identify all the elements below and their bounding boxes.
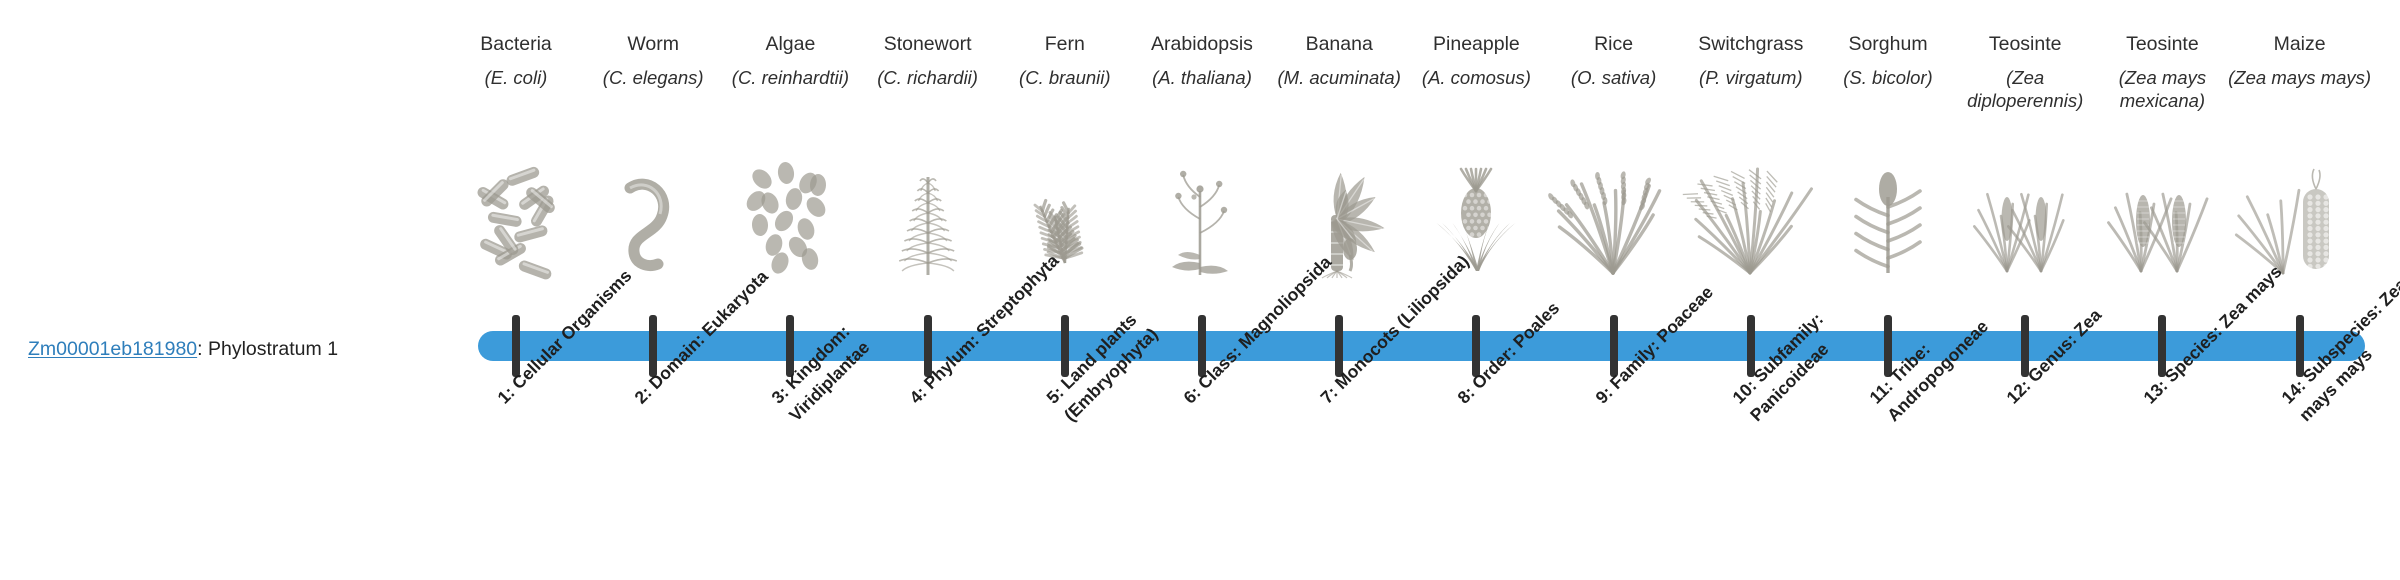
species-common-name: Sorghum [1813,32,1963,56]
species-scientific-name: (A. comosus) [1401,67,1551,89]
species-column-teosinte: Teosinte(Zea mays mexicana) [2087,32,2237,112]
species-column-switchgrass: Switchgrass(P. virgatum) [1676,32,1826,90]
species-common-name: Maize [2225,32,2375,56]
species-scientific-name: (C. reinhardtii) [715,67,865,89]
species-column-rice: Rice(O. sativa) [1539,32,1689,90]
species-scientific-name: (M. acuminata) [1264,67,1414,89]
species-scientific-name: (C. braunii) [990,67,1140,89]
species-scientific-name: (Zea diploperennis) [1950,67,2100,111]
species-scientific-name: (P. virgatum) [1676,67,1826,89]
species-scientific-name: (Zea mays mexicana) [2087,67,2237,111]
species-column-stonewort: Stonewort(C. richardii) [853,32,1003,90]
species-scientific-name: (C. richardii) [853,67,1003,89]
species-column-sorghum: Sorghum(S. bicolor) [1813,32,1963,90]
species-scientific-name: (C. elegans) [578,67,728,89]
species-common-name: Fern [990,32,1140,56]
species-column-pineapple: Pineapple(A. comosus) [1401,32,1551,90]
species-scientific-name: (Zea mays mays) [2225,67,2375,89]
species-scientific-name: (E. coli) [441,67,591,89]
species-common-name: Rice [1539,32,1689,56]
bacteria-icon [441,168,591,278]
species-common-name: Stonewort [853,32,1003,56]
species-column-maize: Maize(Zea mays mays) [2225,32,2375,90]
species-common-name: Banana [1264,32,1414,56]
species-scientific-name: (A. thaliana) [1127,67,1277,89]
phylostratigraphy-figure: Zm00001eb181980: Phylostratum 1 Bacteria… [0,0,2400,580]
species-scientific-name: (O. sativa) [1539,67,1689,89]
species-column-banana: Banana(M. acuminata) [1264,32,1414,90]
species-column-arabidopsis: Arabidopsis(A. thaliana) [1127,32,1277,90]
species-column-worm: Worm(C. elegans) [578,32,728,90]
species-common-name: Arabidopsis [1127,32,1277,56]
species-common-name: Algae [715,32,865,56]
species-column-bacteria: Bacteria(E. coli) [441,32,591,90]
species-column-fern: Fern(C. braunii) [990,32,1140,90]
species-common-name: Worm [578,32,728,56]
species-common-name: Teosinte [1950,32,2100,56]
species-scientific-name: (S. bicolor) [1813,67,1963,89]
species-column-algae: Algae(C. reinhardtii) [715,32,865,90]
species-common-name: Teosinte [2087,32,2237,56]
species-common-name: Pineapple [1401,32,1551,56]
species-common-name: Bacteria [441,32,591,56]
species-column-teosinte: Teosinte(Zea diploperennis) [1950,32,2100,112]
species-common-name: Switchgrass [1676,32,1826,56]
